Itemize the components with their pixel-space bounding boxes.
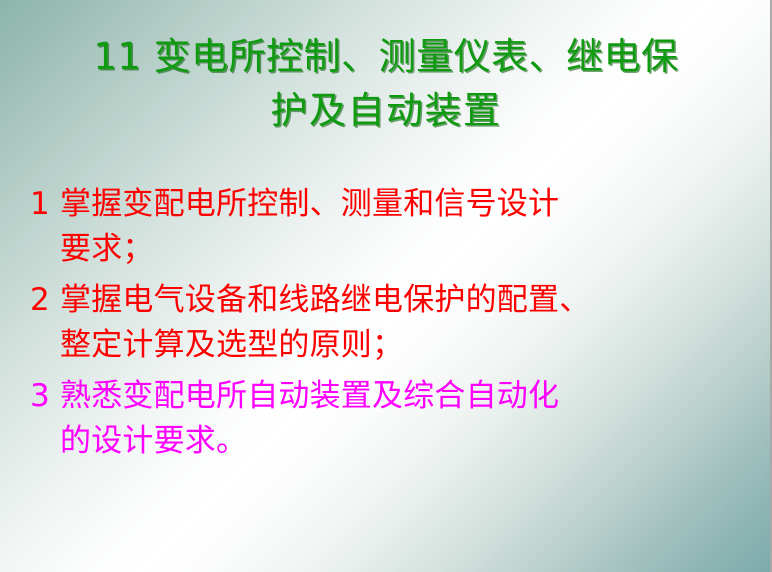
list-item-text-line: 掌握电气设备和线路继电保护的配置、 bbox=[60, 278, 750, 323]
list-item-text: 熟悉变配电所自动装置及综合自动化 的设计要求。 bbox=[60, 374, 750, 464]
list-item-text: 掌握电气设备和线路继电保护的配置、 整定计算及选型的原则； bbox=[60, 278, 750, 368]
list-item: 3 熟悉变配电所自动装置及综合自动化 的设计要求。 bbox=[30, 374, 750, 464]
list-item-text-line: 掌握变配电所控制、测量和信号设计 bbox=[60, 182, 750, 227]
list-item-number: 2 bbox=[30, 278, 60, 323]
list-item-text-line: 要求； bbox=[60, 227, 750, 272]
list-item-number: 1 bbox=[30, 182, 60, 227]
list-item-text-line: 整定计算及选型的原则； bbox=[60, 323, 750, 368]
slide-title-line-1: 11 变电所控制、测量仪表、继电保 bbox=[14, 30, 758, 84]
presentation-slide: 11 变电所控制、测量仪表、继电保 护及自动装置 1 掌握变配电所控制、测量和信… bbox=[0, 0, 772, 572]
list-item-text: 掌握变配电所控制、测量和信号设计 要求； bbox=[60, 182, 750, 272]
slide-title: 11 变电所控制、测量仪表、继电保 护及自动装置 bbox=[14, 30, 758, 138]
list-item-text-line: 的设计要求。 bbox=[60, 419, 750, 464]
objectives-list: 1 掌握变配电所控制、测量和信号设计 要求； 2 掌握电气设备和线路继电保护的配… bbox=[30, 182, 750, 470]
slide-title-line-2: 护及自动装置 bbox=[14, 84, 758, 138]
list-item-number: 3 bbox=[30, 374, 60, 419]
list-item: 2 掌握电气设备和线路继电保护的配置、 整定计算及选型的原则； bbox=[30, 278, 750, 368]
list-item-text-line: 熟悉变配电所自动装置及综合自动化 bbox=[60, 374, 750, 419]
list-item: 1 掌握变配电所控制、测量和信号设计 要求； bbox=[30, 182, 750, 272]
